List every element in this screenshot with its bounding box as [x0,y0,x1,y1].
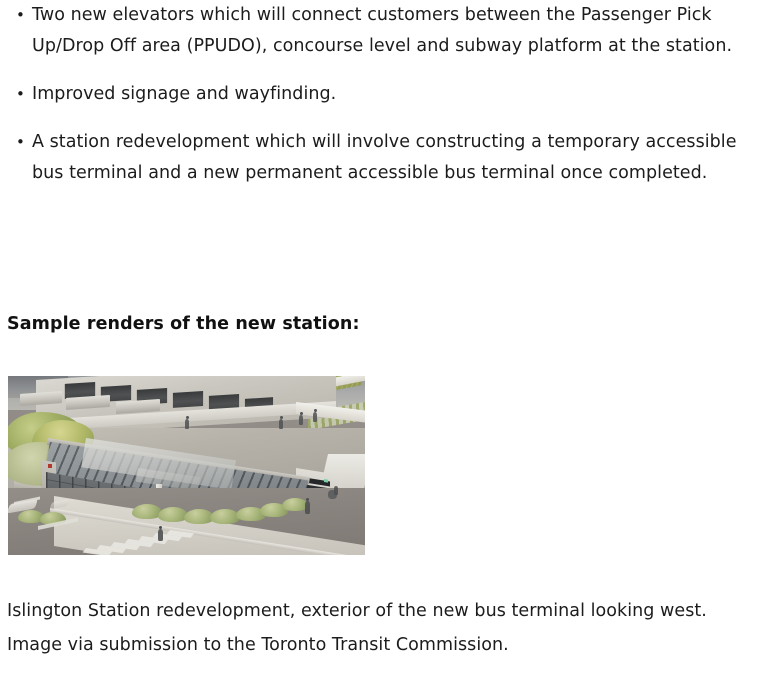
list-item-text: A station redevelopment which will invol… [32,127,758,189]
list-item-text: Improved signage and wayfinding. [32,79,758,110]
render-glazing-bay [172,391,204,408]
list-item: • Improved signage and wayfinding. [0,79,758,110]
station-render-figure [8,376,365,555]
render-exit-sign [48,464,52,468]
figure-caption: Islington Station redevelopment, exterio… [7,594,757,662]
render-pedestrian [305,501,310,514]
station-render-image [8,376,365,555]
render-pedestrian [299,415,303,425]
render-pedestrian [313,412,317,422]
render-sign-indicator [324,479,328,483]
list-item: • A station redevelopment which will inv… [0,127,758,189]
bullet-marker-icon: • [16,127,26,158]
bullet-marker-icon: • [16,79,26,110]
list-item: • Two new elevators which will connect c… [0,0,758,62]
render-pedestrian [185,419,189,429]
render-pedestrian [158,529,163,541]
bullet-marker-icon: • [16,0,26,31]
render-pedestrian [279,419,283,429]
feature-bullet-list: • Two new elevators which will connect c… [0,0,758,189]
render-pedestrian [334,486,338,495]
list-item-text: Two new elevators which will connect cus… [32,0,758,62]
section-heading: Sample renders of the new station: [7,311,360,338]
article-content: • Two new elevators which will connect c… [0,0,765,691]
